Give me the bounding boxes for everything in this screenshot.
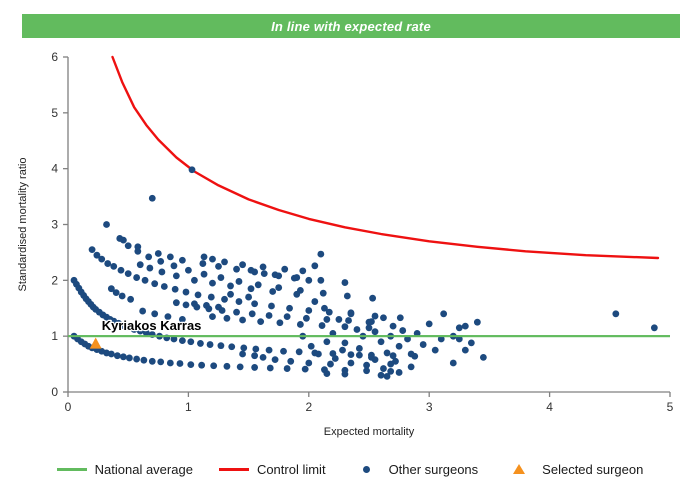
data-point[interactable] xyxy=(315,351,322,358)
data-point[interactable] xyxy=(167,360,174,367)
data-point[interactable] xyxy=(218,274,225,281)
data-point[interactable] xyxy=(189,166,196,173)
data-point[interactable] xyxy=(305,277,312,284)
data-point[interactable] xyxy=(208,294,215,301)
data-point[interactable] xyxy=(323,316,330,323)
y-tick-label-6: 6 xyxy=(51,50,58,64)
data-point[interactable] xyxy=(127,296,134,303)
legend-line-swatch xyxy=(57,468,87,471)
data-point[interactable] xyxy=(249,310,256,317)
data-point[interactable] xyxy=(113,289,120,296)
data-point[interactable] xyxy=(183,302,190,309)
reference-lines xyxy=(68,57,670,336)
data-point[interactable] xyxy=(191,277,198,284)
data-point[interactable] xyxy=(173,299,180,306)
data-point[interactable] xyxy=(266,312,273,319)
data-point[interactable] xyxy=(426,320,433,327)
data-point[interactable] xyxy=(269,288,276,295)
data-point[interactable] xyxy=(157,258,164,265)
data-point[interactable] xyxy=(332,355,339,362)
data-point[interactable] xyxy=(342,323,349,330)
data-point[interactable] xyxy=(354,326,361,333)
data-point[interactable] xyxy=(384,350,391,357)
legend-item-label: Selected surgeon xyxy=(542,462,643,477)
data-point[interactable] xyxy=(372,328,379,335)
y-tick-label-4: 4 xyxy=(51,162,58,176)
data-point[interactable] xyxy=(462,323,469,330)
data-point[interactable] xyxy=(284,365,291,372)
data-point[interactable] xyxy=(120,237,127,244)
data-point[interactable] xyxy=(198,362,205,369)
data-point[interactable] xyxy=(167,253,174,260)
legend-item-national-average[interactable]: National average xyxy=(57,462,193,477)
data-point[interactable] xyxy=(356,345,363,352)
data-point[interactable] xyxy=(319,322,326,329)
data-point[interactable] xyxy=(369,295,376,302)
data-point[interactable] xyxy=(327,361,334,368)
data-point[interactable] xyxy=(287,358,294,365)
data-point[interactable] xyxy=(171,262,178,269)
y-axis-title: Standardised mortality ratio xyxy=(17,158,29,292)
data-point[interactable] xyxy=(104,260,111,267)
data-point[interactable] xyxy=(456,324,463,331)
data-point[interactable] xyxy=(311,262,318,269)
data-point[interactable] xyxy=(387,361,394,368)
data-point[interactable] xyxy=(209,280,216,287)
legend-item-label: National average xyxy=(95,462,193,477)
data-point[interactable] xyxy=(267,365,274,372)
data-point[interactable] xyxy=(155,250,162,257)
selected-surgeon-annotation: Kyriakos Karras xyxy=(102,318,202,333)
legend-item-label: Other surgeons xyxy=(389,462,479,477)
data-point[interactable] xyxy=(272,356,279,363)
data-point[interactable] xyxy=(245,294,252,301)
data-point[interactable] xyxy=(342,279,349,286)
data-point[interactable] xyxy=(201,271,208,278)
data-point[interactable] xyxy=(149,195,156,202)
data-point[interactable] xyxy=(227,291,234,298)
data-point[interactable] xyxy=(255,281,262,288)
data-point[interactable] xyxy=(252,346,259,353)
data-point[interactable] xyxy=(612,310,619,317)
data-point[interactable] xyxy=(266,347,273,354)
data-point[interactable] xyxy=(363,362,370,369)
data-point[interactable] xyxy=(126,355,133,362)
data-point[interactable] xyxy=(462,347,469,354)
x-tick-label-4: 4 xyxy=(546,400,553,414)
data-point[interactable] xyxy=(378,372,385,379)
data-point[interactable] xyxy=(120,353,127,360)
data-point[interactable] xyxy=(179,337,186,344)
data-point[interactable] xyxy=(233,309,240,316)
y-tick-label-3: 3 xyxy=(51,218,58,232)
data-point[interactable] xyxy=(227,283,234,290)
data-point[interactable] xyxy=(110,263,117,270)
data-point[interactable] xyxy=(380,365,387,372)
data-point[interactable] xyxy=(228,343,235,350)
data-point[interactable] xyxy=(336,316,343,323)
data-point[interactable] xyxy=(191,300,198,307)
data-point[interactable] xyxy=(396,369,403,376)
data-point[interactable] xyxy=(280,348,287,355)
data-point[interactable] xyxy=(323,338,330,345)
data-point[interactable] xyxy=(134,243,141,250)
data-point[interactable] xyxy=(372,356,379,363)
data-point[interactable] xyxy=(348,309,355,316)
data-point[interactable] xyxy=(348,360,355,367)
legend-triangle-swatch xyxy=(513,464,525,474)
data-point[interactable] xyxy=(284,313,291,320)
data-point[interactable] xyxy=(432,347,439,354)
data-point[interactable] xyxy=(237,363,244,370)
data-point[interactable] xyxy=(210,362,217,369)
selected-surgeon-marker[interactable] xyxy=(90,337,102,348)
data-point[interactable] xyxy=(103,221,110,228)
plot-svg: 0123456012345Expected mortalityStandardi… xyxy=(0,40,700,440)
data-point[interactable] xyxy=(275,284,282,291)
data-point[interactable] xyxy=(396,343,403,350)
chart-page: In line with expected rate 0123456012345… xyxy=(0,0,700,500)
control-limit-curve xyxy=(113,57,659,258)
data-point[interactable] xyxy=(209,256,216,263)
data-point[interactable] xyxy=(397,314,404,321)
data-point[interactable] xyxy=(161,283,168,290)
data-point[interactable] xyxy=(201,253,208,260)
data-point[interactable] xyxy=(321,305,328,312)
legend-line-swatch xyxy=(219,468,249,471)
x-tick-label-1: 1 xyxy=(185,400,192,414)
legend-item-control-limit[interactable]: Control limit xyxy=(219,462,326,477)
data-point[interactable] xyxy=(236,278,243,285)
data-point[interactable] xyxy=(480,354,487,361)
data-point[interactable] xyxy=(248,285,255,292)
legend-item-other-surgeons[interactable]: Other surgeons xyxy=(352,462,479,477)
data-point[interactable] xyxy=(248,267,255,274)
data-point[interactable] xyxy=(317,251,324,258)
data-point[interactable] xyxy=(281,266,288,273)
data-point[interactable] xyxy=(474,319,481,326)
data-point[interactable] xyxy=(251,364,258,371)
data-point[interactable] xyxy=(233,266,240,273)
x-tick-label-5: 5 xyxy=(667,400,674,414)
data-point[interactable] xyxy=(251,352,258,359)
data-point[interactable] xyxy=(177,360,184,367)
data-point[interactable] xyxy=(151,310,158,317)
chart-legend: National averageControl limitOther surge… xyxy=(0,452,700,486)
data-point[interactable] xyxy=(215,304,222,311)
data-point[interactable] xyxy=(297,321,304,328)
data-point[interactable] xyxy=(305,360,312,367)
data-point[interactable] xyxy=(293,291,300,298)
data-point[interactable] xyxy=(146,265,153,272)
data-point[interactable] xyxy=(108,351,115,358)
data-point[interactable] xyxy=(89,246,96,253)
data-point[interactable] xyxy=(260,264,267,271)
data-point[interactable] xyxy=(651,324,658,331)
data-point[interactable] xyxy=(133,274,140,281)
data-point[interactable] xyxy=(183,289,190,296)
data-point[interactable] xyxy=(118,267,125,274)
data-point[interactable] xyxy=(179,257,186,264)
data-point[interactable] xyxy=(268,303,275,310)
data-point[interactable] xyxy=(342,339,349,346)
data-point[interactable] xyxy=(218,342,225,349)
data-point[interactable] xyxy=(450,360,457,367)
data-point[interactable] xyxy=(239,317,246,324)
data-point[interactable] xyxy=(468,339,475,346)
data-point[interactable] xyxy=(125,242,132,249)
data-point[interactable] xyxy=(299,267,306,274)
data-point[interactable] xyxy=(420,341,427,348)
legend-dot-swatch xyxy=(363,466,370,473)
data-point[interactable] xyxy=(221,259,228,266)
data-point[interactable] xyxy=(344,293,351,300)
data-point[interactable] xyxy=(323,370,330,377)
data-point[interactable] xyxy=(308,343,315,350)
data-point[interactable] xyxy=(399,327,406,334)
data-point[interactable] xyxy=(187,361,194,368)
status-banner-text: In line with expected rate xyxy=(271,19,431,34)
data-point[interactable] xyxy=(342,371,349,378)
data-point[interactable] xyxy=(261,270,268,277)
data-point[interactable] xyxy=(142,277,149,284)
data-point[interactable] xyxy=(317,277,324,284)
scatter-points-other-surgeons xyxy=(71,166,658,379)
status-banner: In line with expected rate xyxy=(22,14,680,38)
data-point[interactable] xyxy=(139,308,146,315)
data-point[interactable] xyxy=(366,319,373,326)
x-tick-label-0: 0 xyxy=(65,400,72,414)
data-point[interactable] xyxy=(199,260,206,267)
data-point[interactable] xyxy=(390,323,397,330)
data-point[interactable] xyxy=(320,290,327,297)
data-point[interactable] xyxy=(345,317,352,324)
data-point[interactable] xyxy=(303,315,310,322)
data-point[interactable] xyxy=(149,358,156,365)
y-tick-label-2: 2 xyxy=(51,273,58,287)
data-point[interactable] xyxy=(221,296,228,303)
data-point[interactable] xyxy=(157,358,164,365)
data-point[interactable] xyxy=(251,300,258,307)
data-point[interactable] xyxy=(207,341,214,348)
data-point[interactable] xyxy=(408,351,415,358)
data-point[interactable] xyxy=(114,352,121,359)
data-point[interactable] xyxy=(277,319,284,326)
data-point[interactable] xyxy=(378,338,385,345)
data-point[interactable] xyxy=(339,347,346,354)
x-tick-label-3: 3 xyxy=(426,400,433,414)
x-tick-label-2: 2 xyxy=(305,400,312,414)
data-point[interactable] xyxy=(275,272,282,279)
data-point[interactable] xyxy=(195,291,202,298)
y-tick-label-1: 1 xyxy=(51,329,58,343)
data-point[interactable] xyxy=(151,280,158,287)
legend-item-selected-surgeon[interactable]: Selected surgeon xyxy=(504,462,643,477)
funnel-plot-chart: 0123456012345Expected mortalityStandardi… xyxy=(0,40,700,440)
data-point[interactable] xyxy=(384,373,391,380)
data-point[interactable] xyxy=(224,363,231,370)
data-point[interactable] xyxy=(224,315,231,322)
legend-item-label: Control limit xyxy=(257,462,326,477)
x-axis-title: Expected mortality xyxy=(324,426,415,438)
data-point[interactable] xyxy=(215,263,222,270)
data-point[interactable] xyxy=(239,351,246,358)
data-point[interactable] xyxy=(119,293,126,300)
y-tick-label-5: 5 xyxy=(51,106,58,120)
data-point[interactable] xyxy=(239,261,246,268)
data-point[interactable] xyxy=(187,338,194,345)
data-point[interactable] xyxy=(140,357,147,364)
data-point[interactable] xyxy=(257,318,264,325)
data-point[interactable] xyxy=(185,267,192,274)
data-point[interactable] xyxy=(296,348,303,355)
data-point[interactable] xyxy=(203,302,210,309)
data-point[interactable] xyxy=(380,314,387,321)
data-point[interactable] xyxy=(197,340,204,347)
data-point[interactable] xyxy=(408,363,415,370)
data-point[interactable] xyxy=(172,286,179,293)
data-point[interactable] xyxy=(209,313,216,320)
data-point[interactable] xyxy=(173,272,180,279)
data-point[interactable] xyxy=(145,253,152,260)
data-point[interactable] xyxy=(236,298,243,305)
data-point[interactable] xyxy=(98,256,105,263)
data-point[interactable] xyxy=(125,270,132,277)
data-point[interactable] xyxy=(286,305,293,312)
data-point[interactable] xyxy=(440,310,447,317)
data-point[interactable] xyxy=(302,366,309,373)
data-point[interactable] xyxy=(260,354,267,361)
data-point[interactable] xyxy=(137,261,144,268)
data-point[interactable] xyxy=(311,298,318,305)
data-point[interactable] xyxy=(291,275,298,282)
y-tick-label-0: 0 xyxy=(51,385,58,399)
data-point[interactable] xyxy=(348,351,355,358)
data-point[interactable] xyxy=(305,307,312,314)
data-point[interactable] xyxy=(240,344,247,351)
data-point[interactable] xyxy=(356,352,363,359)
data-point[interactable] xyxy=(372,313,379,320)
data-point[interactable] xyxy=(159,269,166,276)
data-point[interactable] xyxy=(133,356,140,363)
